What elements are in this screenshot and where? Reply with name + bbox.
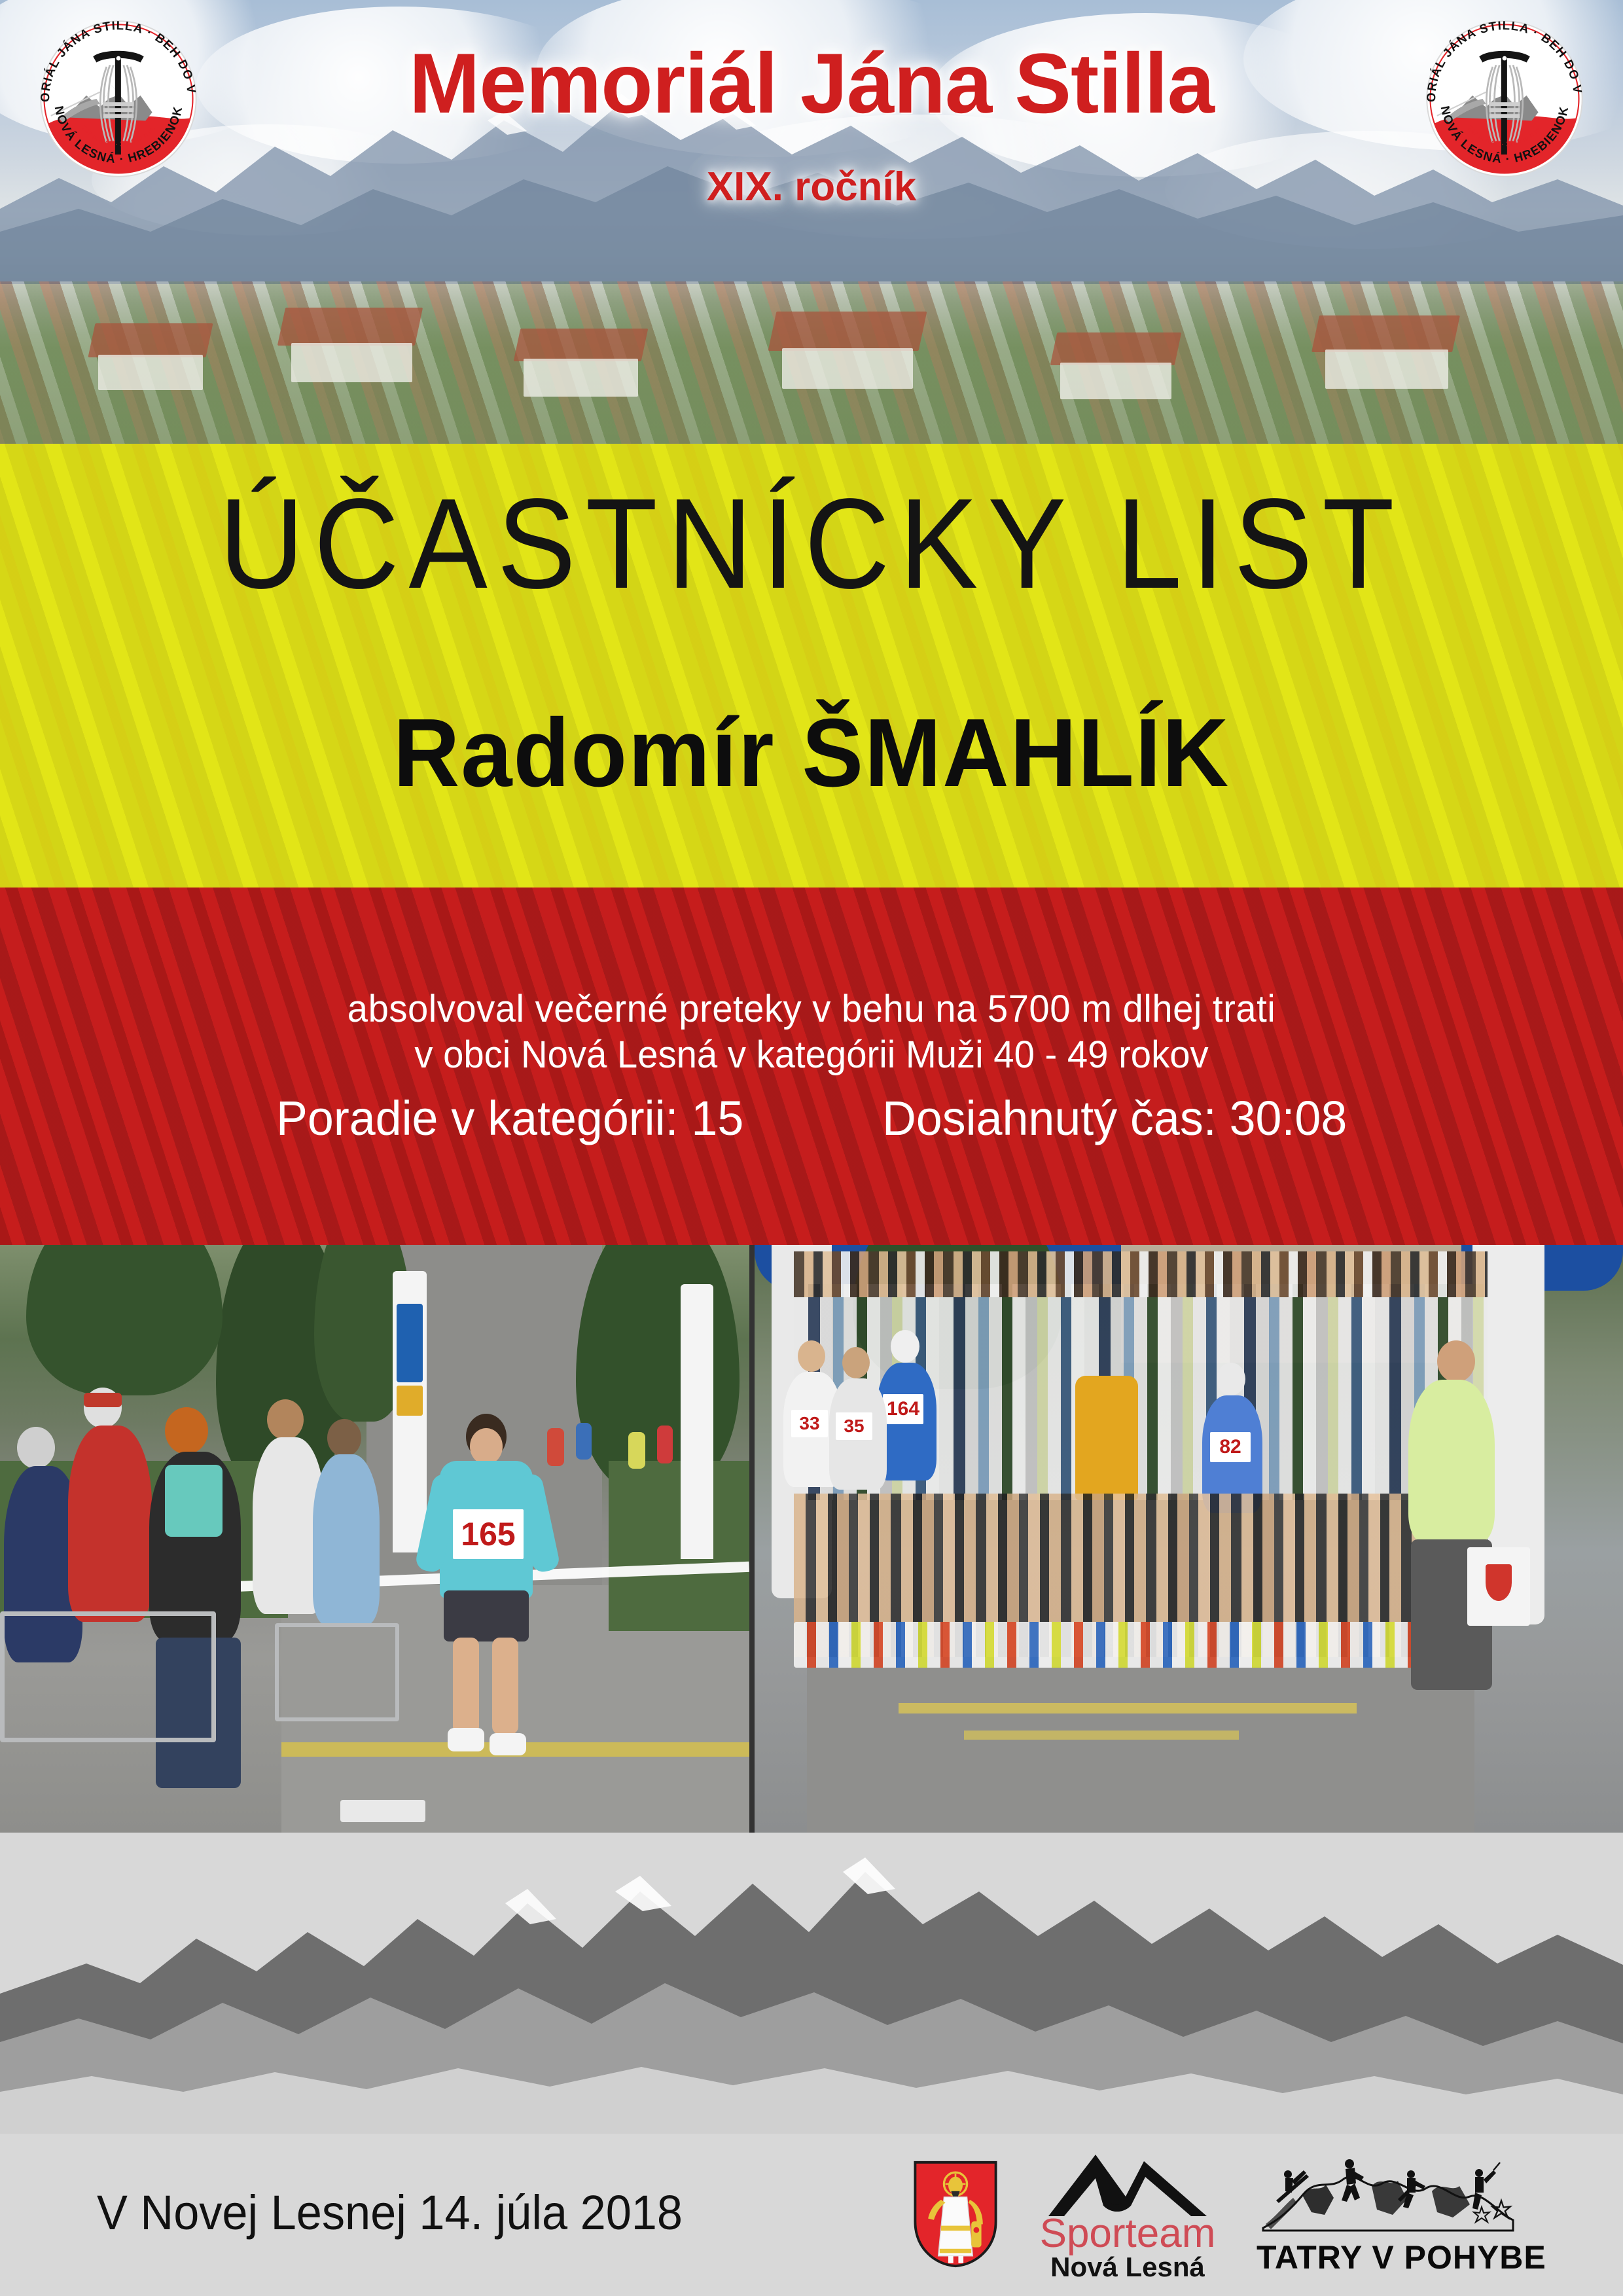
sporteam-logo: Sporteam Nová Lesná <box>1039 2148 1216 2281</box>
results-row: Poradie v kategórii: 15 Dosiahnutý čas: … <box>0 1090 1623 1146</box>
village-rooftops <box>0 281 1623 458</box>
memorial-emblem-icon: MEMORIÁL JÁNA STILLA · BEH DO VRCHU NOVÁ… <box>34 14 203 183</box>
runner-bib-164: 164 <box>883 1394 923 1424</box>
runner-bib-82: 82 <box>1210 1432 1251 1462</box>
header-mountain-photo: Memoriál Jána Stilla XIX. ročník <box>0 0 1623 458</box>
sporteam-subtitle: Nová Lesná <box>1039 2253 1216 2281</box>
edition-subtitle: XIX. ročník <box>0 164 1623 210</box>
certificate-heading: ÚČASTNÍCKY LIST <box>65 470 1558 617</box>
sporteam-wordmark: Sporteam <box>1039 2215 1216 2253</box>
page-title: Memoriál Jána Stilla <box>0 34 1623 132</box>
footer-logos: Sporteam Nová Lesná <box>912 2148 1518 2281</box>
red-band: absolvoval večerné preteky v behu na 570… <box>0 888 1623 1245</box>
photo-strip: 165 <box>0 1245 1623 1833</box>
certificate-poster: Memoriál Jána Stilla XIX. ročník <box>0 0 1623 2296</box>
yellow-band: ÚČASTNÍCKY LIST Radomír ŠMAHLÍK <box>0 444 1623 888</box>
tatry-mountain-sports-icon <box>1257 2152 1518 2238</box>
footer: V Novej Lesnej 14. júla 2018 <box>0 2134 1623 2296</box>
tatry-v-pohybe-logo: TATRY V POHYBE <box>1257 2152 1518 2276</box>
footer-date: V Novej Lesnej 14. júla 2018 <box>97 2185 683 2240</box>
participant-name: Radomír ŠMAHLÍK <box>41 698 1582 809</box>
memorial-emblem-icon: MEMORIÁL JÁNA STILLA · BEH DO VRCHU NOVÁ… <box>1420 14 1589 183</box>
runner-bib-33: 33 <box>791 1410 828 1437</box>
event-logo-right: MEMORIÁL JÁNA STILLA · BEH DO VRCHU NOVÁ… <box>1420 14 1589 183</box>
description-line-1: absolvoval večerné preteky v behu na 570… <box>24 987 1599 1031</box>
event-logo-left: MEMORIÁL JÁNA STILLA · BEH DO VRCHU NOVÁ… <box>34 14 203 183</box>
finish-line-photo: 165 <box>0 1245 749 1833</box>
runner-bib-number: 165 <box>453 1509 524 1559</box>
category-rank: Poradie v kategórii: 15 <box>276 1090 743 1146</box>
nova-lesna-coat-of-arms-icon <box>912 2159 999 2269</box>
finish-time: Dosiahnutý čas: 30:08 <box>882 1090 1347 1146</box>
sporteam-mountain-icon <box>1039 2148 1216 2219</box>
tatry-wordmark: TATRY V POHYBE <box>1257 2238 1518 2276</box>
description-line-2: v obci Nová Lesná v kategórii Muži 40 - … <box>24 1033 1599 1077</box>
runner-bib-35: 35 <box>836 1412 872 1440</box>
mass-start-photo: 164 33 35 82 <box>755 1245 1623 1833</box>
